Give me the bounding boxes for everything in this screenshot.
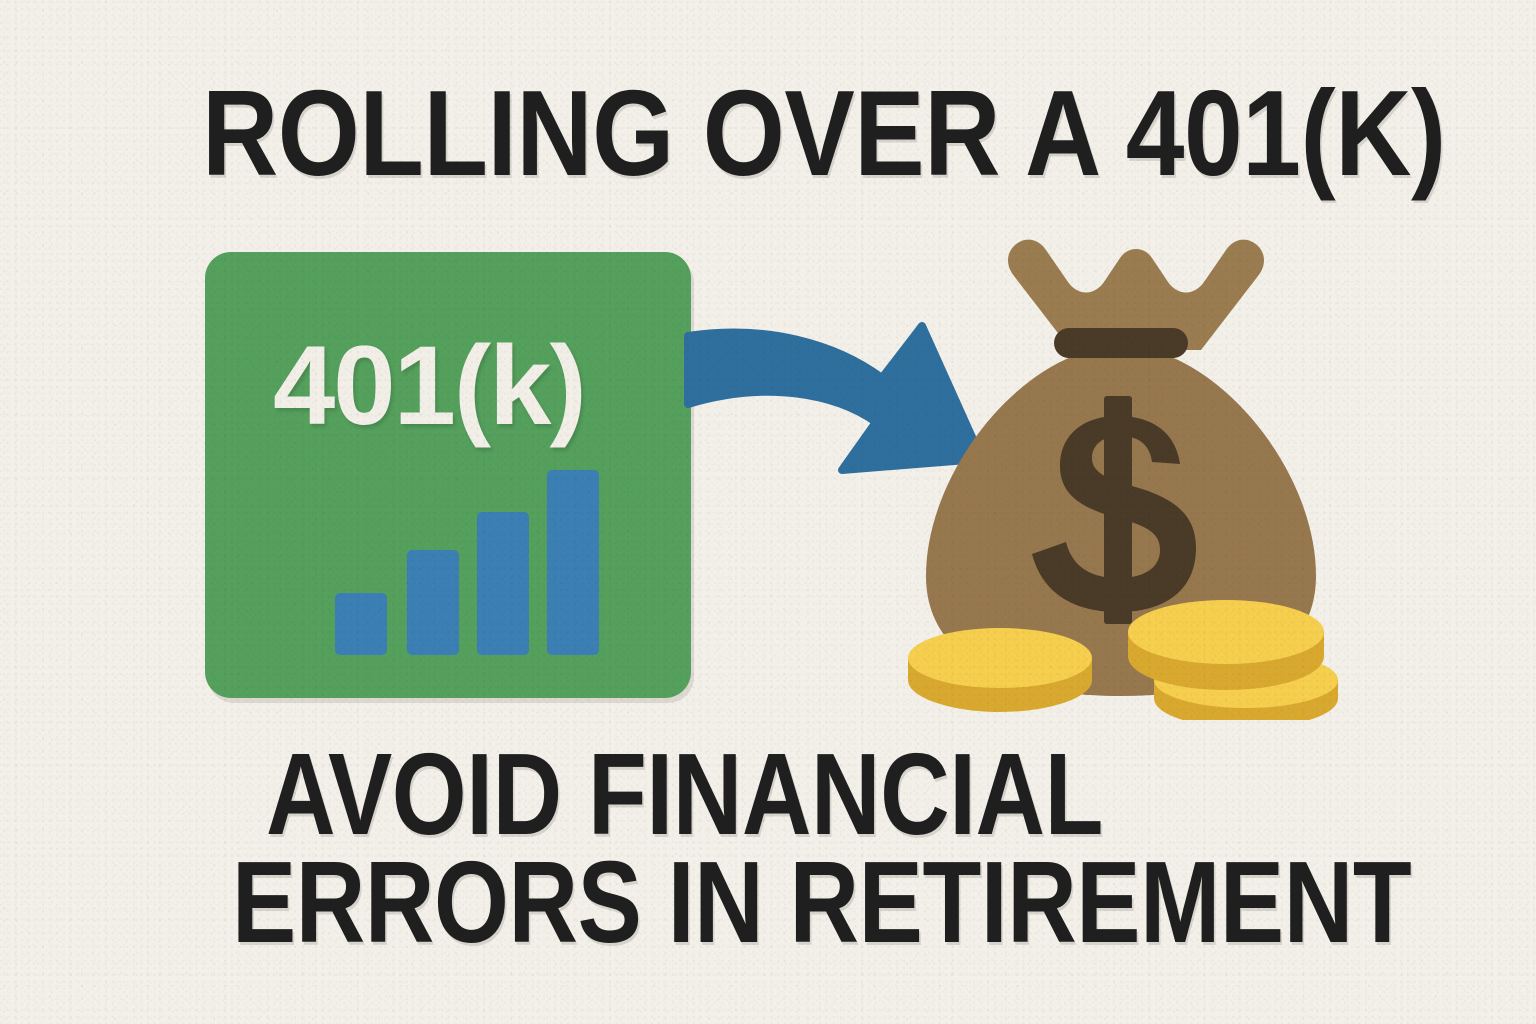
subtitle-line-2: ERRORS IN RETIREMENT bbox=[232, 844, 1411, 960]
subtitle-line-1: AVOID FINANCIAL bbox=[266, 736, 1103, 852]
page-title: ROLLING OVER A 401(K) bbox=[202, 72, 1446, 194]
401k-card-label: 401(k) bbox=[273, 330, 585, 442]
growth-bar-1 bbox=[335, 593, 387, 655]
money-bag-icon bbox=[896, 228, 1346, 720]
401k-account-card: 401(k) bbox=[205, 252, 691, 698]
coin-left bbox=[908, 628, 1092, 712]
growth-bar-3 bbox=[477, 512, 529, 655]
infographic-poster: ROLLING OVER A 401(K) 401(k) bbox=[0, 0, 1536, 1024]
growth-bar-4 bbox=[547, 470, 599, 655]
money-bag-tie bbox=[1054, 328, 1188, 358]
growth-bar-2 bbox=[407, 550, 459, 655]
coin-stack-upper bbox=[1128, 600, 1324, 690]
